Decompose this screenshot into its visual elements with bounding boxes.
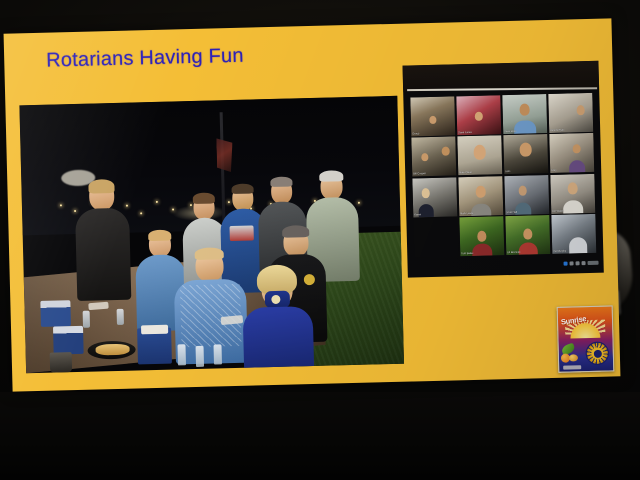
participant-name: Dennis Ryan [550,128,565,132]
zoom-toolbar[interactable] [414,258,598,272]
cooler [40,300,71,327]
participant-name: Scott Hall [506,210,517,214]
participant-torso [514,120,536,134]
participant-name: Bill Cooper [413,172,426,176]
participant-torso [569,160,585,172]
person-hair [319,170,343,182]
participants-icon[interactable] [575,261,579,265]
participant-name: Group [412,132,419,136]
participant-face [518,185,526,195]
person-hair [231,183,253,194]
slide-title-area: Rotarians Having Fun [4,26,305,96]
participant-torso [563,200,583,214]
participant-name: Mark Lewis [460,212,473,216]
zoom-participant-tile[interactable]: John [503,134,548,174]
participant-face [573,144,581,153]
zoom-participant-tile[interactable]: Greg [549,133,594,173]
participant-name: Dave Ross [504,130,517,134]
participant-face [429,115,436,123]
participant-face [477,231,486,242]
participant-torso [569,237,587,253]
person-hair [88,179,114,194]
zoom-participant-tile[interactable]: Ed Brennan [505,215,550,255]
zoom-participant-tile[interactable]: Dennis Ryan [548,93,593,133]
zoom-participant-tile[interactable]: Jim Walsh [550,174,595,214]
participant-name: Ed Brennan [507,251,521,255]
gift-bag-tissue [141,325,168,335]
participant-name: Pat Murphy [553,250,566,254]
zoom-participant-tile[interactable]: Mike Olson [457,136,502,176]
microphone-icon[interactable] [564,261,568,265]
participant-face [576,105,584,115]
participant-name: Tom Baker [461,252,474,256]
person-hair [148,230,171,242]
zoom-participant-tile[interactable]: Dave Ross [502,94,547,134]
zoom-participant-tile[interactable]: Dave Jones [456,95,501,135]
tile-video [548,93,593,133]
person-hair [193,192,215,204]
person-torso [75,208,131,301]
participant-name: Jim Walsh [552,209,564,213]
zoom-participant-tile[interactable]: Scott Hall [504,175,549,215]
participant-face [474,145,486,160]
participant-torso [471,203,491,216]
participant-face [475,111,483,120]
participant-name: Greg [551,169,557,173]
banner-footer-strip [563,365,581,369]
leave-meeting-button[interactable] [587,260,598,264]
page-title: Rotarians Having Fun [46,45,244,73]
rotary-sunrise-banner: Sunrise [557,305,615,372]
participant-face [422,153,429,161]
participant-face [523,229,532,240]
participant-name: John [505,170,511,174]
zoom-participant-tile[interactable]: Group [410,96,455,136]
tshirt-graphic [230,225,254,241]
drink-cup [50,352,72,373]
flag [216,138,233,172]
presentation-slide: Rotarians Having Fun [4,18,621,391]
group-photo [19,96,404,373]
video-camera-icon[interactable] [569,261,573,265]
participant-name: Karen [414,213,421,217]
participant-name: Dave Jones [458,131,472,135]
group-member [73,181,132,298]
zoom-empty-cell [413,217,458,257]
food [95,344,129,356]
group-member-seated [240,264,317,373]
zoom-gallery-grid: Group Dave Jones Dave Ross Dennis Ry [410,93,596,258]
water-bottle [83,311,90,328]
squash-icon [569,354,578,361]
room-floor-shadow [0,392,640,480]
participant-torso [472,243,492,256]
participant-face [476,186,486,198]
water-bottle [177,344,186,365]
zoom-participant-tile[interactable]: Tom Baker [459,216,504,256]
participant-face [422,188,430,198]
vegetables-graphic [561,344,583,363]
participant-face-secondary [441,147,449,156]
participant-torso [518,242,537,254]
zoom-participant-tile[interactable]: Pat Murphy [551,214,596,254]
participant-name: Mike Olson [459,171,472,175]
person-hair [195,247,224,260]
zoom-participant-tile[interactable]: Karen [412,177,457,217]
zoom-meeting-screenshot: Group Dave Jones Dave Ross Dennis Ry [403,61,604,278]
person-hair [282,225,309,238]
tile-video [411,137,456,177]
zoom-participant-tile[interactable]: Mark Lewis [458,176,503,216]
photographed-slide-scene: Rotarians Having Fun [0,0,640,480]
participant-face [567,183,577,195]
zoom-toolbar-edge [407,87,597,91]
chat-icon[interactable] [581,261,585,265]
water-bottle [196,346,205,367]
participant-face [519,103,529,115]
person-torso [243,306,315,373]
participant-face [519,143,531,157]
cooler [53,326,84,355]
person-hair [270,176,292,187]
water-bottle [117,309,124,325]
zoom-participant-tile[interactable]: Bill Cooper [411,137,456,177]
water-bottle [213,344,222,364]
rotary-wheel-icon [587,343,609,365]
